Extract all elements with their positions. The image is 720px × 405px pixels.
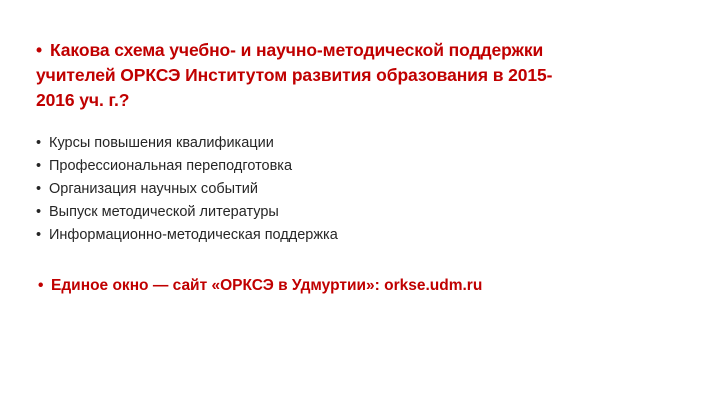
bullet-icon: • xyxy=(36,155,49,178)
bullet-icon: • xyxy=(36,224,49,247)
footer-line-wrapper: •Единое окно — сайт «ОРКСЭ в Удмуртии»: … xyxy=(38,275,698,297)
bullet-icon: • xyxy=(38,275,51,297)
bullet-icon: • xyxy=(36,201,49,224)
bullet-icon: • xyxy=(36,132,49,155)
list-item-label: Выпуск методической литературы xyxy=(49,204,279,220)
bullet-icon: • xyxy=(36,38,50,63)
slide-title: •Какова схема учебно- и научно-методичес… xyxy=(36,38,696,113)
slide-body-list: •Курсы повышения квалификации •Профессио… xyxy=(36,132,696,247)
list-item: •Организация научных событий xyxy=(36,178,696,201)
list-item-label: Информационно-методическая поддержка xyxy=(49,227,338,243)
list-item: •Курсы повышения квалификации xyxy=(36,132,696,155)
title-line-2: учителей ОРКСЭ Институтом развития образ… xyxy=(36,63,696,88)
title-line-3: 2016 уч. г.? xyxy=(36,88,696,113)
title-line-1-wrapper: •Какова схема учебно- и научно-методичес… xyxy=(36,38,696,63)
list-item-label: Курсы повышения квалификации xyxy=(49,135,274,151)
list-item-label: Организация научных событий xyxy=(49,181,258,197)
list-item: •Информационно-методическая поддержка xyxy=(36,224,696,247)
list-item-label: Профессиональная переподготовка xyxy=(49,158,292,174)
footer-text: Единое окно — сайт «ОРКСЭ в Удмуртии»: o… xyxy=(51,277,482,294)
list-item: •Профессиональная переподготовка xyxy=(36,155,696,178)
list-item: •Выпуск методической литературы xyxy=(36,201,696,224)
slide-footer: •Единое окно — сайт «ОРКСЭ в Удмуртии»: … xyxy=(38,275,698,297)
title-line-1: Какова схема учебно- и научно-методическ… xyxy=(50,40,543,60)
bullet-icon: • xyxy=(36,178,49,201)
slide-canvas: •Какова схема учебно- и научно-методичес… xyxy=(0,0,720,405)
